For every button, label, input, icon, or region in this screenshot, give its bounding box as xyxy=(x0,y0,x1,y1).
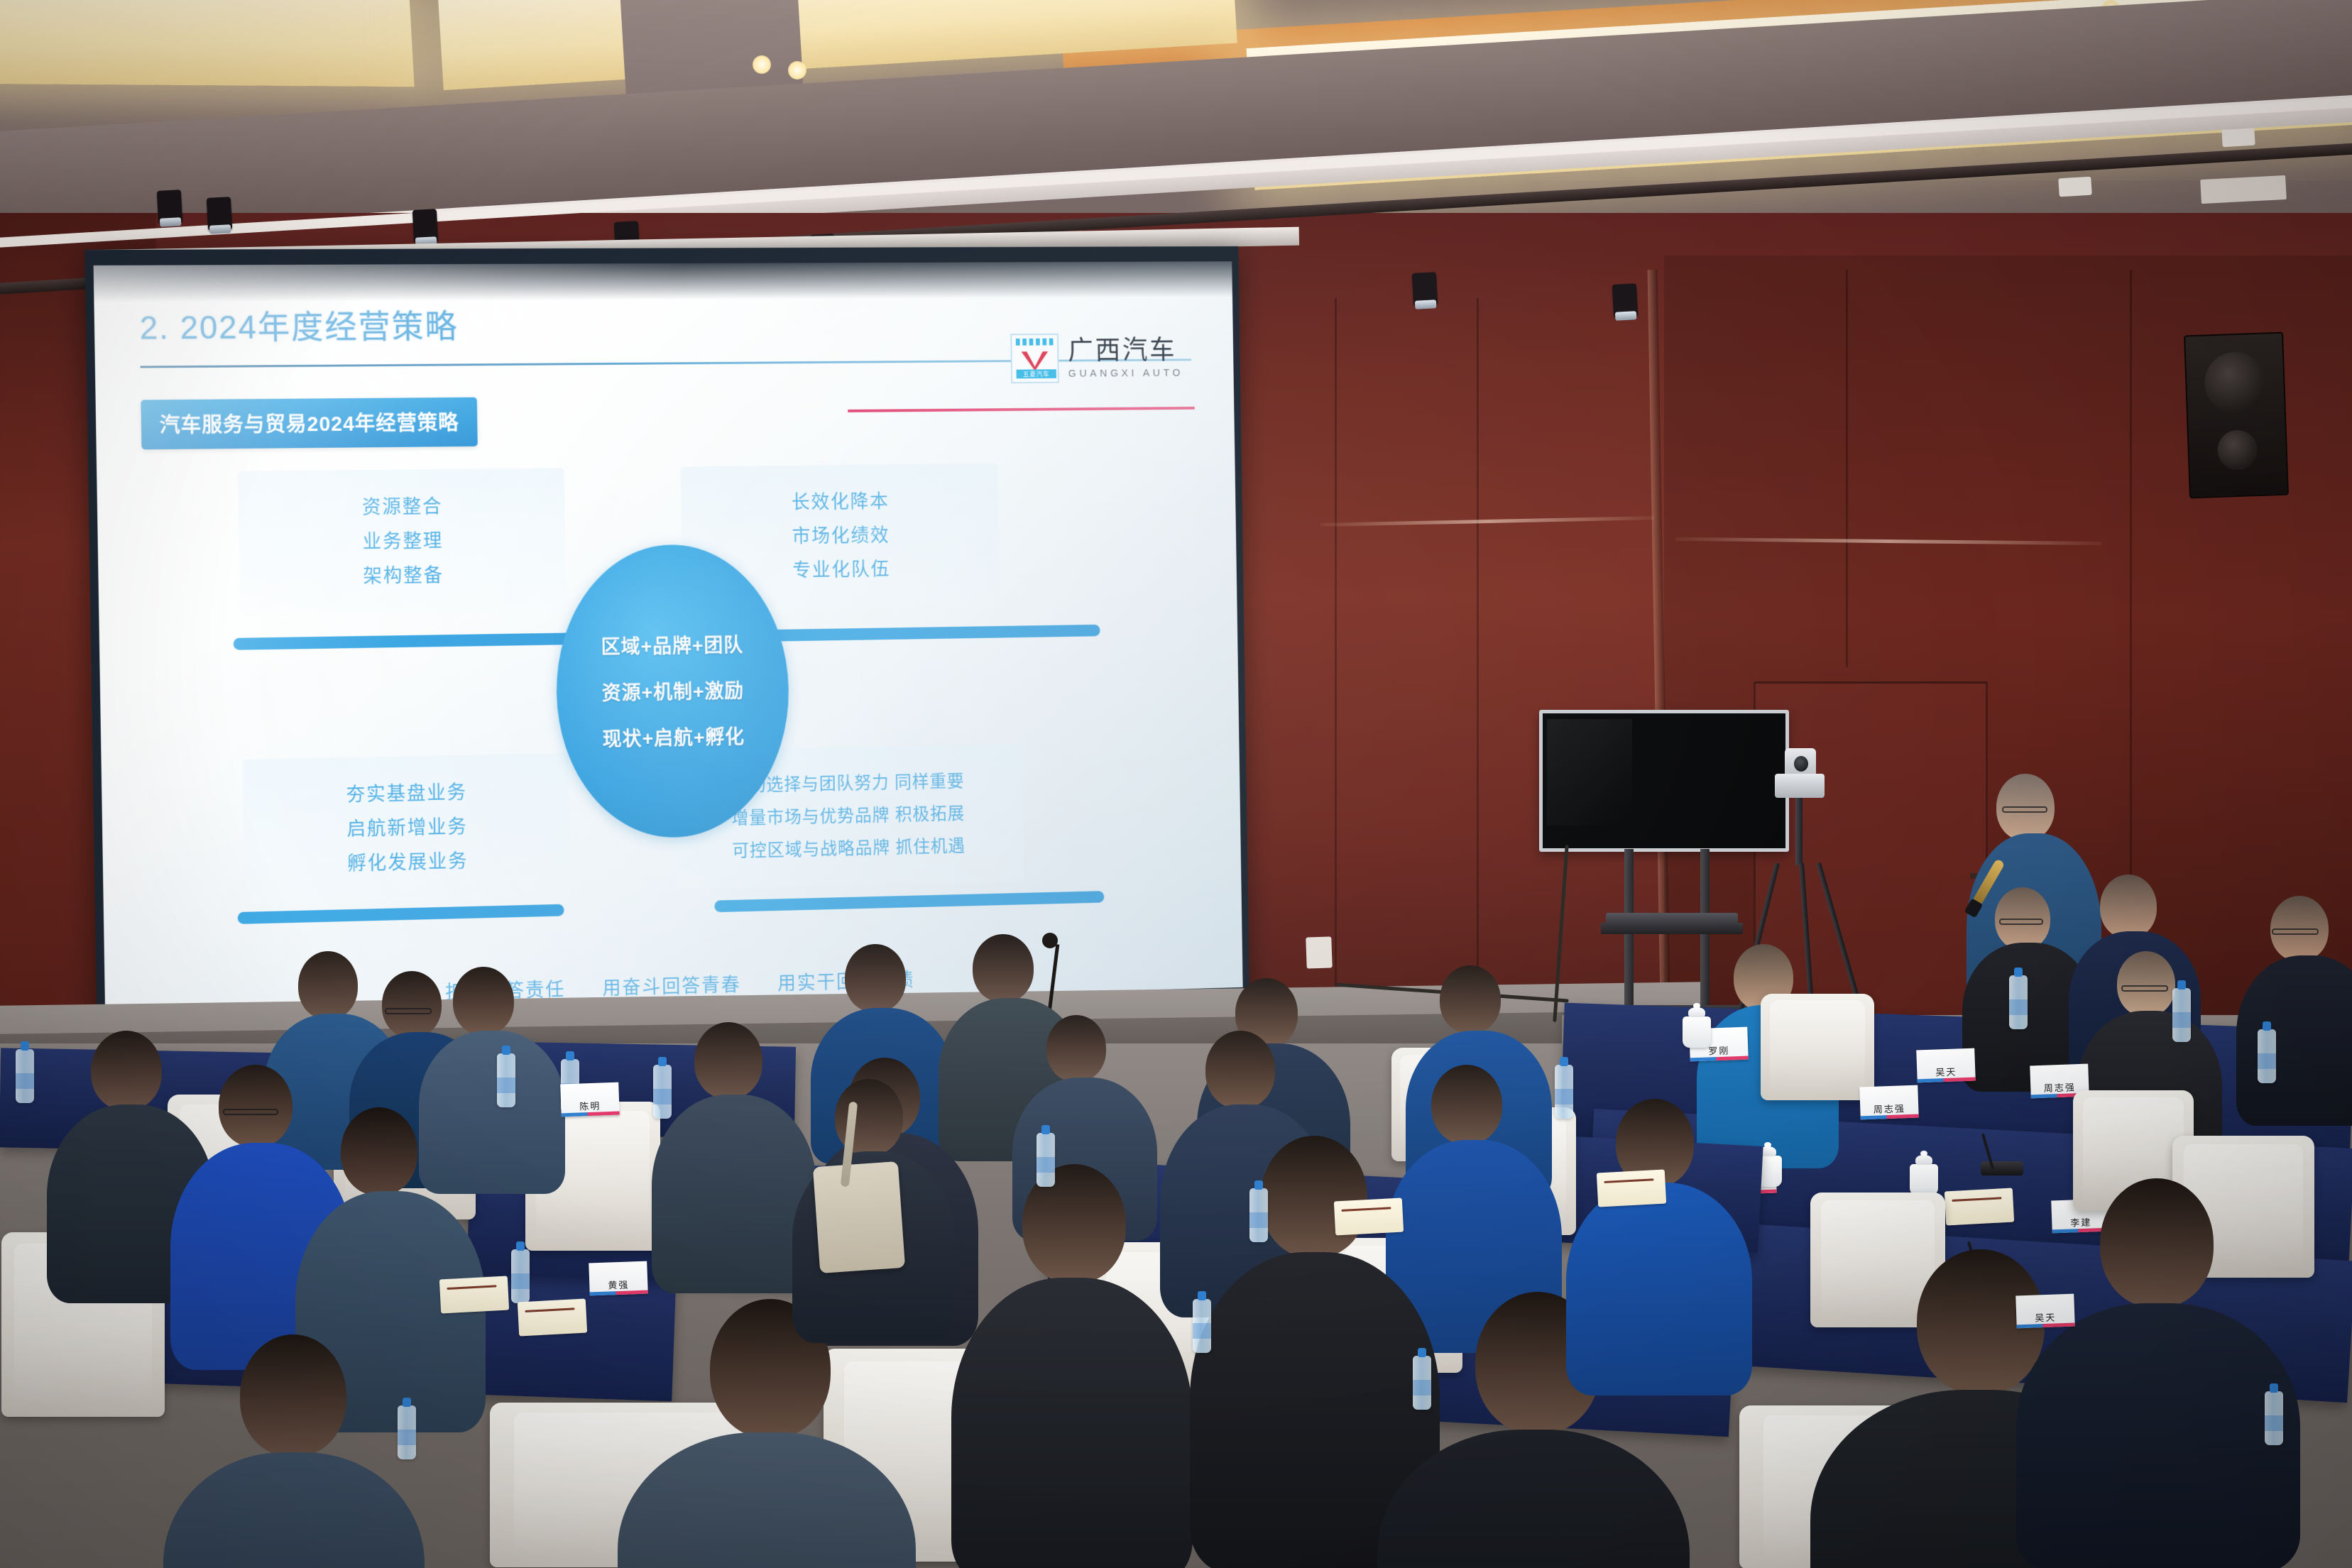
spotlight-icon xyxy=(412,209,438,243)
water-bottle xyxy=(497,1053,515,1107)
name-placard: 陈明 xyxy=(560,1082,620,1117)
quadrant-item: 启航新增业务 xyxy=(244,815,570,841)
water-bottle xyxy=(2258,1029,2276,1083)
wall-vent xyxy=(2200,175,2287,204)
attendee-head xyxy=(1440,965,1501,1034)
wall-panel-seam xyxy=(1846,270,1848,667)
glasses-icon xyxy=(1999,919,2043,925)
speaker-driver-icon xyxy=(2217,429,2258,471)
projection-screen: 2. 2024年度经营策略 五菱汽车 xyxy=(94,261,1243,1019)
spotlight-icon xyxy=(1412,272,1438,306)
quadrant-item: 长效化降本 xyxy=(681,491,998,513)
conference-room-scene: 2. 2024年度经营策略 五菱汽车 xyxy=(0,0,2352,1568)
ceiling-vent xyxy=(2221,127,2255,148)
glasses-icon xyxy=(2272,928,2319,935)
notebook xyxy=(439,1276,509,1314)
spotlight-icon xyxy=(207,197,232,231)
water-bottle xyxy=(1036,1133,1055,1187)
monitor-glare xyxy=(1547,719,1632,826)
attendee-torso xyxy=(419,1031,565,1194)
wall-speaker xyxy=(2184,332,2289,499)
chair[interactable] xyxy=(1761,994,1874,1100)
attendee-torso xyxy=(2016,1303,2300,1568)
placard-name: 陈明 xyxy=(579,1098,601,1112)
attendee-torso xyxy=(2236,955,2352,1126)
strategy-diagram: 资源整合 业务整理 架构整备 长效化降本 市场化绩效 专业化队伍 夯实基盘业务 … xyxy=(224,462,1118,966)
name-placard: 周志强 xyxy=(1859,1085,1919,1120)
attendee-head xyxy=(1046,1015,1106,1082)
projection-screen-frame: 2. 2024年度经营策略 五菱汽车 xyxy=(84,246,1249,1038)
center-circle-line: 区域+品牌+团队 xyxy=(601,630,743,660)
logo-accent-rule xyxy=(848,407,1194,412)
placard-name: 周志强 xyxy=(2043,1080,2076,1095)
attendee-torso xyxy=(1566,1183,1752,1396)
quadrant-item: 架构整备 xyxy=(239,564,566,588)
tea-cup xyxy=(1683,1016,1711,1048)
wuling-emblem-icon: 五菱汽车 xyxy=(1010,334,1059,383)
wall-panel-seam xyxy=(1477,298,1479,1015)
attendee-head xyxy=(240,1334,346,1457)
attendee-head xyxy=(382,971,442,1038)
notebook xyxy=(518,1299,587,1337)
attendee-head xyxy=(2117,951,2175,1016)
desk-microphone-base xyxy=(1981,1161,2023,1175)
water-bottle xyxy=(2172,988,2191,1042)
spotlight-icon xyxy=(157,190,182,224)
soundbar xyxy=(1606,913,1738,928)
logo-bottom-bar: 五菱汽车 xyxy=(1017,369,1056,378)
water-bottle xyxy=(1193,1299,1211,1353)
placard-name: 李建 xyxy=(2070,1215,2092,1229)
water-bottle xyxy=(16,1049,34,1103)
logo-mark-label: 五菱汽车 xyxy=(1023,369,1050,378)
attendee-head xyxy=(694,1022,762,1099)
placard-name: 吴天 xyxy=(2035,1310,2057,1324)
slide-section-banner: 汽车服务与贸易2024年经营策略 xyxy=(141,398,477,450)
company-logo: 五菱汽车 广西汽车 GUANGXI AUTO xyxy=(1010,333,1183,383)
attendee-head xyxy=(1261,1136,1367,1258)
placard-name: 罗刚 xyxy=(1708,1043,1730,1057)
attendee-head xyxy=(453,967,514,1035)
notebook xyxy=(1334,1198,1404,1236)
water-bottle xyxy=(1249,1188,1268,1242)
quadrant-top-left: 资源整合 业务整理 架构整备 xyxy=(238,468,567,616)
glasses-icon xyxy=(223,1109,278,1115)
tea-cup xyxy=(1910,1164,1938,1195)
water-bottle xyxy=(2265,1391,2283,1445)
attendee-head xyxy=(91,1031,162,1110)
quadrant-item: 资源整合 xyxy=(238,496,564,519)
wall-power-socket[interactable] xyxy=(1306,936,1333,968)
water-bottle xyxy=(2009,975,2028,1029)
name-placard: 吴天 xyxy=(2015,1294,2075,1329)
name-placard: 黄强 xyxy=(589,1261,648,1296)
wall-panel-seam xyxy=(1335,298,1337,1015)
center-circle-line: 资源+机制+激励 xyxy=(601,676,744,706)
attendee-head xyxy=(1431,1065,1502,1144)
attendee-head xyxy=(298,951,358,1019)
quadrant-item: 孵化发展业务 xyxy=(244,850,570,876)
logo-name-en: GUANGXI AUTO xyxy=(1068,367,1183,380)
glasses-icon xyxy=(385,1008,432,1014)
logo-name-cn: 广西汽车 xyxy=(1068,336,1183,363)
attendee-torso xyxy=(951,1278,1193,1568)
quadrant-item: 业务整理 xyxy=(239,530,565,554)
water-bottle xyxy=(1413,1356,1431,1410)
attendee-head xyxy=(973,934,1034,1002)
tripod-center-column xyxy=(1795,798,1803,865)
quadrant-bottom-left: 夯实基盘业务 启航新增业务 孵化发展业务 xyxy=(242,753,571,904)
presentation-slide: 2. 2024年度经营策略 五菱汽车 xyxy=(94,261,1243,1019)
spotlight-icon xyxy=(1612,283,1638,317)
notebook xyxy=(1597,1170,1666,1207)
glasses-icon xyxy=(2002,806,2047,813)
display-monitor[interactable] xyxy=(1539,710,1789,852)
downlight-icon xyxy=(753,55,771,74)
ceiling-vent xyxy=(2058,177,2091,197)
tripod-head xyxy=(1775,774,1825,798)
name-placard: 吴天 xyxy=(1916,1048,1976,1083)
placard-name: 吴天 xyxy=(1935,1064,1957,1078)
placard-name: 周志强 xyxy=(1873,1101,1905,1116)
tote-bag xyxy=(813,1161,905,1273)
water-bottle xyxy=(511,1249,530,1303)
divider-bar-top-right xyxy=(738,625,1100,642)
speaker-driver-icon xyxy=(2204,351,2267,415)
attendee-head xyxy=(2100,875,2157,938)
quadrant-item: 夯实基盘业务 xyxy=(243,781,569,806)
downlight-icon xyxy=(788,61,806,80)
quadrant-item: 可控区域与战略品牌 抓住机遇 xyxy=(673,836,1024,862)
logo-top-bar xyxy=(1016,339,1056,346)
notebook xyxy=(1944,1188,2014,1226)
attendee-head xyxy=(2100,1178,2214,1307)
placard-name: 黄强 xyxy=(608,1277,630,1291)
divider-bar-top-left xyxy=(234,632,595,650)
divider-bar-bottom-left xyxy=(238,904,564,924)
microphone-icon xyxy=(1042,933,1058,948)
attendee-head xyxy=(1205,1031,1275,1109)
water-bottle xyxy=(653,1065,672,1119)
screen-shadow-top xyxy=(94,261,1232,302)
divider-bar-bottom-right xyxy=(714,891,1104,912)
center-circle-line: 现状+启航+孵化 xyxy=(602,722,745,752)
attendee-head-ponytail xyxy=(341,1107,417,1195)
water-bottle xyxy=(398,1405,416,1459)
attendee-head xyxy=(219,1065,292,1147)
glasses-icon xyxy=(2121,985,2168,992)
cove-light-bay-1 xyxy=(0,0,415,87)
water-bottle xyxy=(1555,1065,1573,1119)
quadrant-item: 市场化绩效 xyxy=(682,525,999,547)
attendee-head xyxy=(845,944,906,1012)
